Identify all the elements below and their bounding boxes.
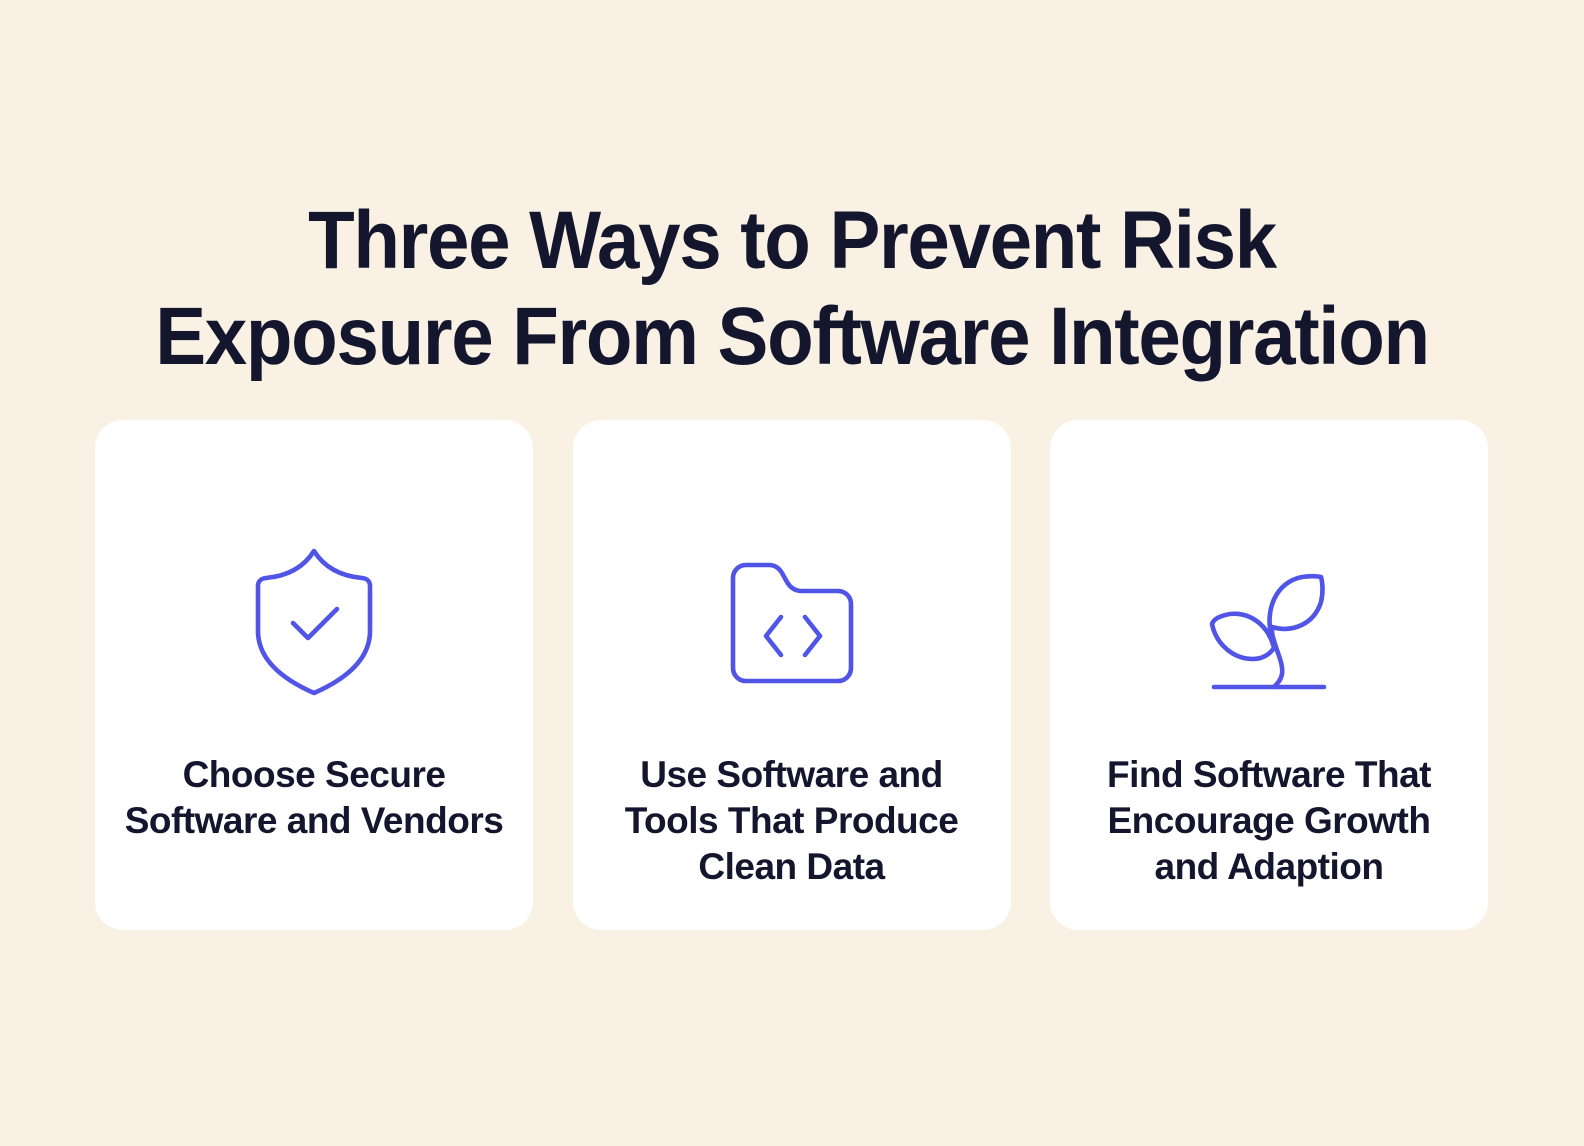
infographic-poster: Three Ways to Prevent Risk Exposure From… [0,0,1584,1146]
card-caption: Find Software That Encourage Growth and … [1076,752,1462,890]
card-growth-adaption: Find Software That Encourage Growth and … [1050,420,1488,930]
card-caption-line: Tools That Produce [599,798,985,844]
page-title: Three Ways to Prevent Risk Exposure From… [55,193,1528,385]
card-caption: Choose Secure Software and Vendors [121,752,507,844]
card-choose-secure-software: Choose Secure Software and Vendors [95,420,533,930]
card-caption-line: and Adaption [1076,844,1462,890]
card-caption-line: Clean Data [599,844,985,890]
shield-check-icon [95,532,533,712]
card-clean-data-tools: Use Software and Tools That Produce Clea… [573,420,1011,930]
card-caption-line: Use Software and [599,752,985,798]
card-caption-line: Find Software That [1076,752,1462,798]
page-title-line-2: Exposure From Software Integration [55,289,1528,385]
folder-code-icon [573,532,1011,712]
card-caption: Use Software and Tools That Produce Clea… [599,752,985,890]
page-title-line-1: Three Ways to Prevent Risk [55,193,1528,289]
card-caption-line: Software and Vendors [121,798,507,844]
sprout-growth-icon [1050,532,1488,712]
card-row: Choose Secure Software and Vendors Use S… [95,420,1488,930]
card-caption-line: Encourage Growth [1076,798,1462,844]
card-caption-line: Choose Secure [121,752,507,798]
